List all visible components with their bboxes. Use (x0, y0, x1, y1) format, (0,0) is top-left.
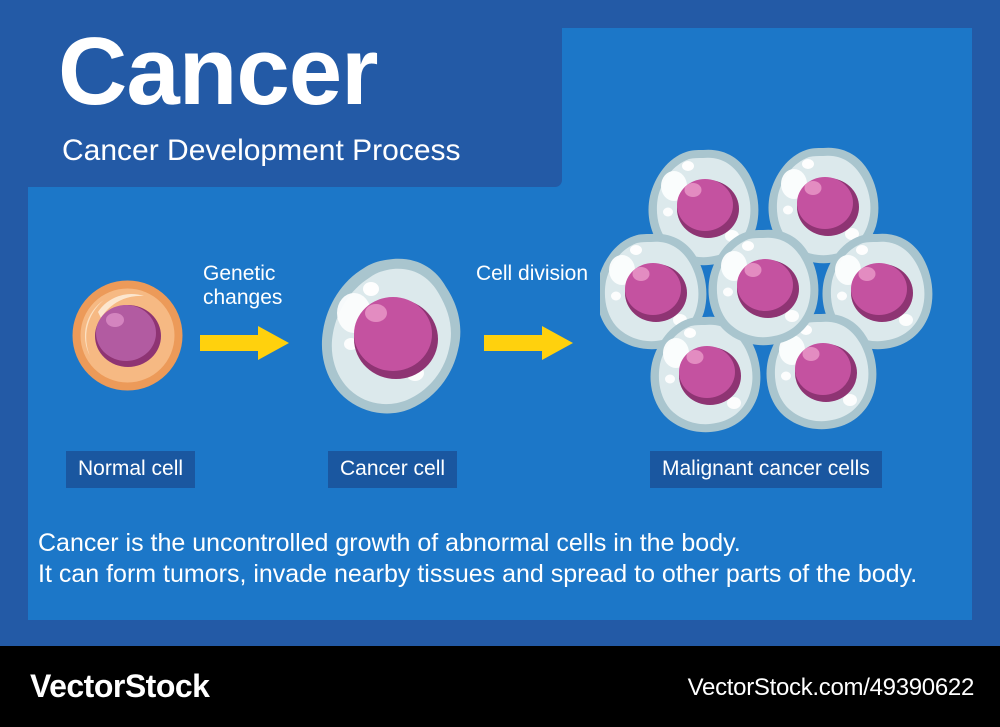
malignant-cell-cluster-illustration (600, 140, 940, 440)
nucleus-body (354, 297, 432, 371)
page-subtitle: Cancer Development Process (62, 134, 461, 168)
transition-label-cell-division: Cell division (476, 262, 588, 286)
caption-normal-cell: Normal cell (66, 451, 195, 488)
vectorstock-logo: VectorStock (30, 668, 209, 704)
normal-cell-illustration (70, 278, 185, 393)
right-arrow-icon-division (484, 325, 574, 366)
normal-cell-svg (70, 278, 185, 393)
page-title: Cancer (58, 20, 378, 124)
nucleus-body (96, 305, 156, 361)
description-block: Cancer is the uncontrolled growth of abn… (38, 528, 978, 590)
nucleus-highlight (106, 313, 124, 327)
vectorstock-url: VectorStock.com/49390622 (688, 674, 974, 702)
caption-cancer-cell: Cancer cell (328, 451, 457, 488)
cancer-cell-svg (318, 255, 468, 420)
infographic-canvas: Cancer Cancer Development Process Geneti… (0, 0, 1000, 727)
malignant-cell-center (709, 230, 819, 345)
cytoplasm-highlight-small-1 (363, 282, 379, 296)
arrow-shape (200, 326, 289, 360)
nucleus-highlight (365, 304, 387, 322)
caption-malignant-cancer-cells: Malignant cancer cells (650, 451, 882, 488)
cancer-cell-illustration (318, 255, 468, 420)
watermark-footer: VectorStock VectorStock.com/49390622 (0, 646, 1000, 727)
right-arrow-svg (484, 325, 574, 361)
arrow-shape (484, 326, 573, 360)
transition-label-genetic-changes: Genetic changes (203, 262, 282, 310)
description-line-1: Cancer is the uncontrolled growth of abn… (38, 528, 978, 559)
right-arrow-icon-genetic (200, 325, 290, 366)
description-line-2: It can form tumors, invade nearby tissue… (38, 559, 978, 590)
malignant-cluster-svg (600, 140, 940, 440)
right-arrow-svg (200, 325, 290, 361)
